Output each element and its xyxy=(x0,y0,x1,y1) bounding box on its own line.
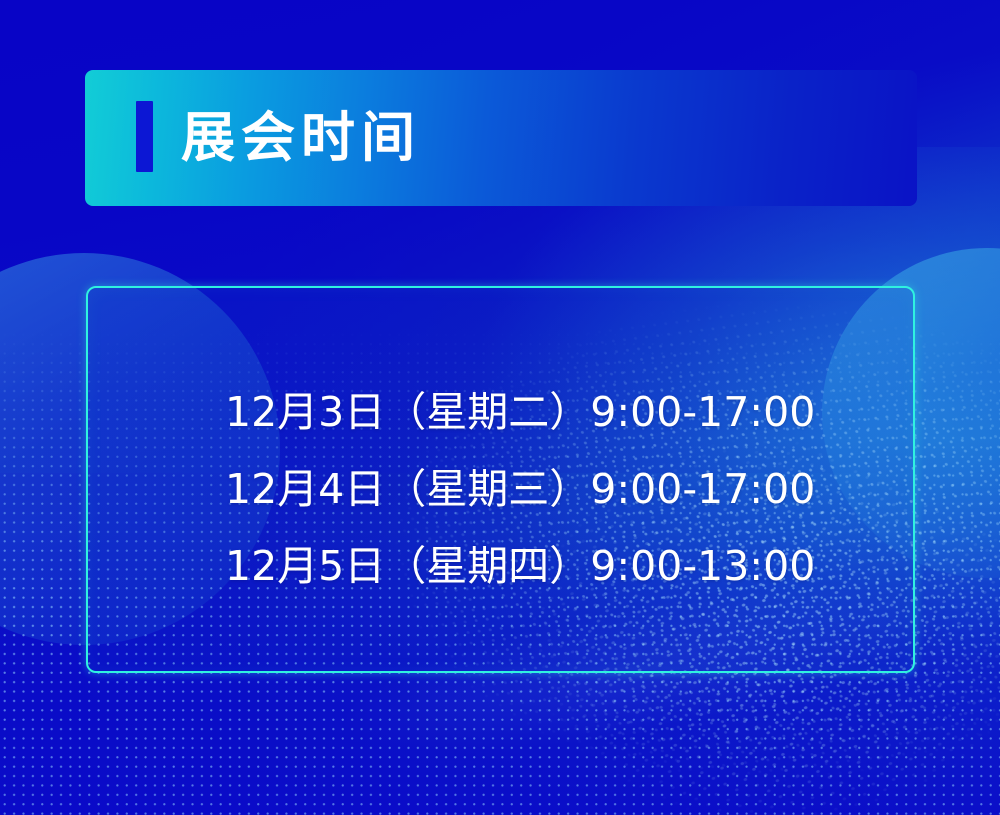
exhibition-time-poster: 展会时间 12月3日（星期二）9:00-17:00 12月4日（星期三）9:00… xyxy=(0,0,1000,815)
page-title: 展会时间 xyxy=(181,111,421,165)
header-accent-bar xyxy=(136,101,153,172)
schedule-list: 12月3日（星期二）9:00-17:00 12月4日（星期三）9:00-17:0… xyxy=(225,374,785,605)
header-bar: 展会时间 xyxy=(85,70,917,206)
schedule-line-1: 12月3日（星期二）9:00-17:00 xyxy=(225,374,785,451)
schedule-line-3: 12月5日（星期四）9:00-13:00 xyxy=(225,528,785,605)
schedule-line-2: 12月4日（星期三）9:00-17:00 xyxy=(225,451,785,528)
